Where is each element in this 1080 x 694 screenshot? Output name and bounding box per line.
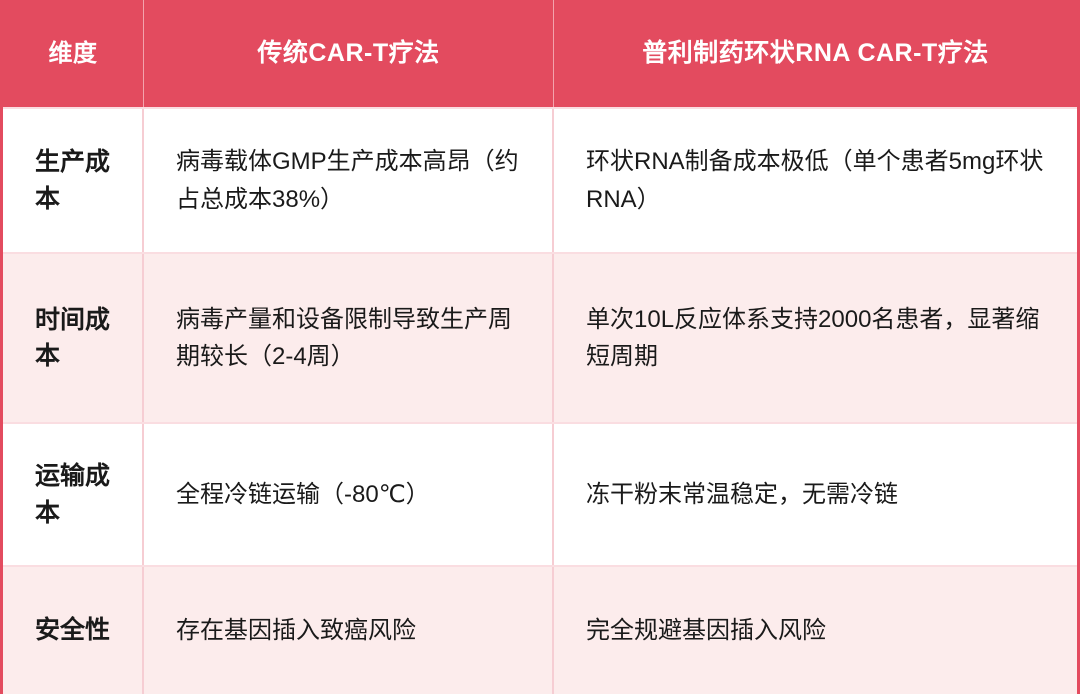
row-column-b-cell: 环状RNA制备成本极低（单个患者5mg环状RNA） [554, 109, 1077, 252]
row-column-b-text: 环状RNA制备成本极低（单个患者5mg环状RNA） [586, 143, 1057, 217]
row-column-a-text: 存在基因插入致癌风险 [176, 612, 416, 649]
table-row: 安全性 存在基因插入致癌风险 完全规避基因插入风险 [3, 565, 1077, 694]
row-dimension-label: 生产成本 [35, 144, 134, 217]
row-column-a-text: 病毒产量和设备限制导致生产周期较长（2-4周） [176, 301, 534, 375]
row-column-b-cell: 冻干粉末常温稳定，无需冷链 [554, 424, 1077, 565]
row-column-b-text: 冻干粉末常温稳定，无需冷链 [586, 476, 898, 513]
row-column-a-cell: 病毒载体GMP生产成本高昂（约占总成本38%） [144, 109, 554, 252]
table-header-row: 维度 传统CAR-T疗法 普利制药环状RNA CAR-T疗法 [3, 0, 1077, 107]
row-column-a-text: 全程冷链运输（-80℃） [176, 476, 430, 513]
row-column-b-cell: 单次10L反应体系支持2000名患者，显著缩短周期 [554, 254, 1077, 422]
header-column-a-label: 传统CAR-T疗法 [257, 38, 439, 69]
table-row: 运输成本 全程冷链运输（-80℃） 冻干粉末常温稳定，无需冷链 [3, 422, 1077, 565]
header-dimension-label: 维度 [49, 39, 98, 69]
row-dimension-cell: 时间成本 [3, 254, 144, 422]
row-column-a-text: 病毒载体GMP生产成本高昂（约占总成本38%） [176, 143, 534, 217]
row-dimension-cell: 生产成本 [3, 109, 144, 252]
row-dimension-label: 运输成本 [35, 458, 134, 531]
row-dimension-cell: 运输成本 [3, 424, 144, 565]
row-column-b-text: 完全规避基因插入风险 [586, 612, 826, 649]
row-column-a-cell: 全程冷链运输（-80℃） [144, 424, 554, 565]
header-cell-dimension: 维度 [3, 0, 144, 107]
row-dimension-label: 安全性 [35, 612, 110, 648]
header-cell-traditional-cart: 传统CAR-T疗法 [144, 0, 554, 107]
row-column-b-text: 单次10L反应体系支持2000名患者，显著缩短周期 [586, 301, 1057, 375]
row-column-a-cell: 存在基因插入致癌风险 [144, 567, 554, 694]
row-dimension-label: 时间成本 [35, 302, 134, 375]
comparison-table: 维度 传统CAR-T疗法 普利制药环状RNA CAR-T疗法 生产成本 病毒载体… [0, 0, 1080, 694]
header-column-b-label: 普利制药环状RNA CAR-T疗法 [642, 38, 988, 69]
header-cell-circular-rna-cart: 普利制药环状RNA CAR-T疗法 [554, 0, 1077, 107]
table-row: 时间成本 病毒产量和设备限制导致生产周期较长（2-4周） 单次10L反应体系支持… [3, 252, 1077, 422]
row-column-a-cell: 病毒产量和设备限制导致生产周期较长（2-4周） [144, 254, 554, 422]
row-column-b-cell: 完全规避基因插入风险 [554, 567, 1077, 694]
table-row: 生产成本 病毒载体GMP生产成本高昂（约占总成本38%） 环状RNA制备成本极低… [3, 107, 1077, 252]
row-dimension-cell: 安全性 [3, 567, 144, 694]
